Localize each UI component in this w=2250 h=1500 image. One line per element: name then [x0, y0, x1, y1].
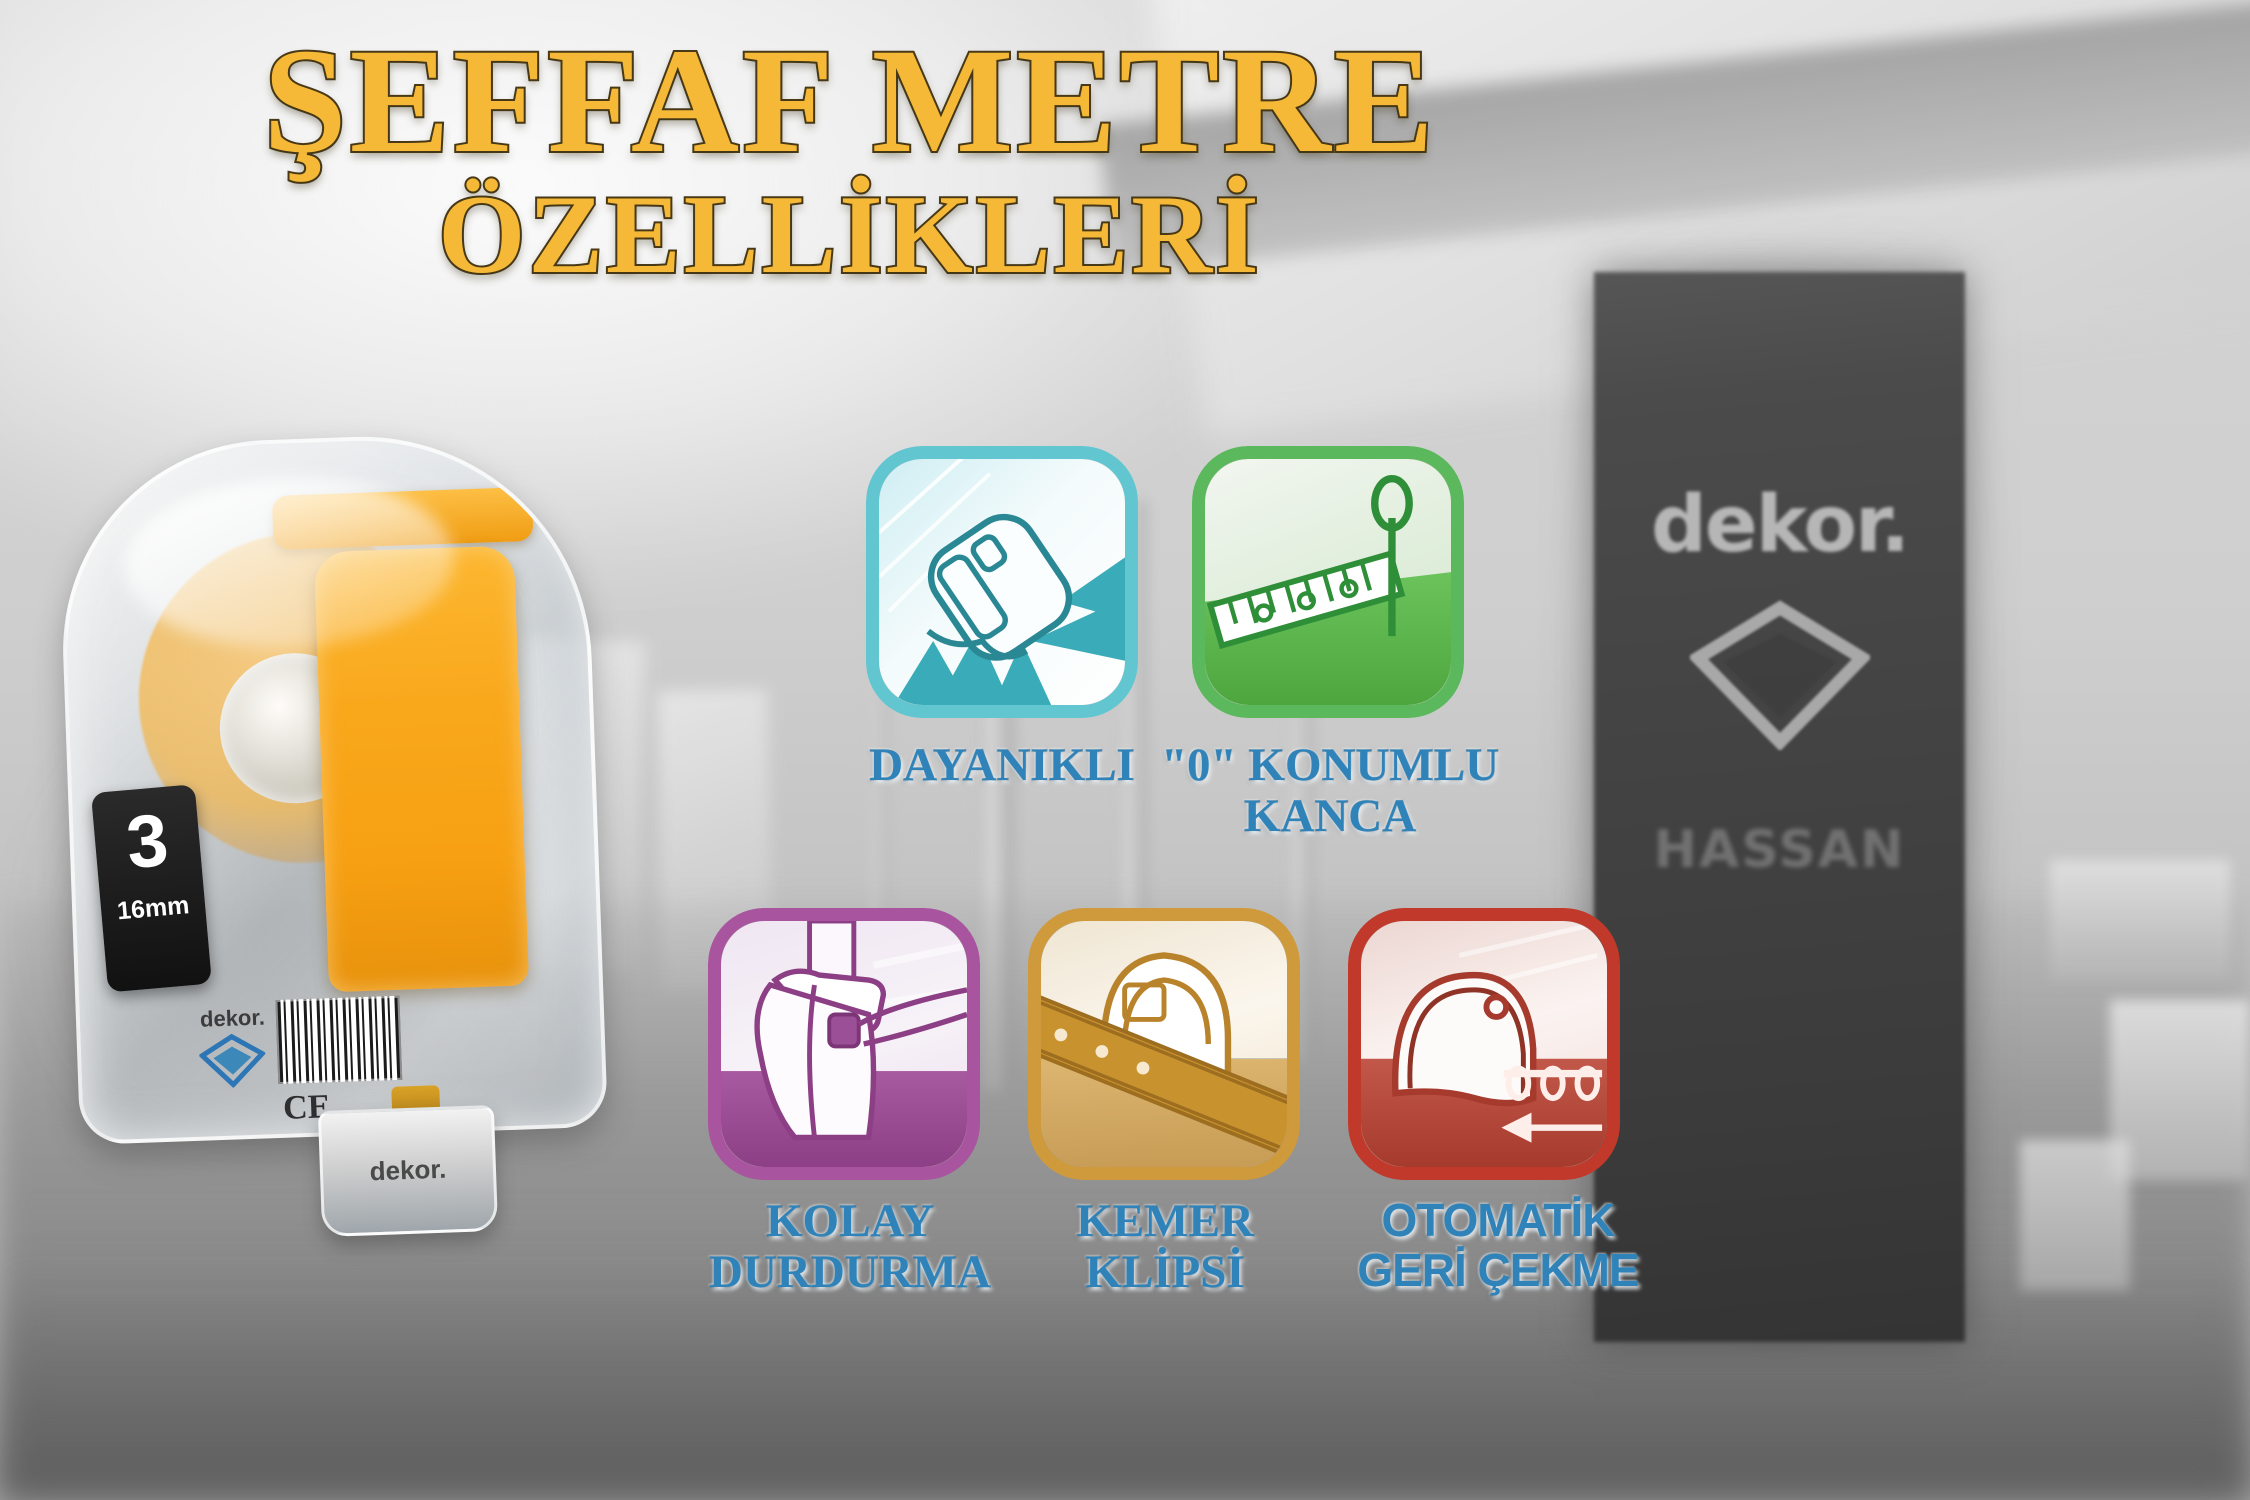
tape-end-clip: dekor. [318, 1105, 498, 1237]
tile-frame-easy-lock [708, 908, 980, 1180]
width-value: 16mm [100, 890, 206, 928]
length-value: 3 [92, 800, 202, 883]
background-crate [2020, 1140, 2130, 1290]
dekor-sign-subtitle: HASSAN [1594, 820, 1965, 880]
barcode [275, 996, 402, 1084]
tile-frame-belt-clip [1028, 908, 1300, 1180]
dekor-diamond-logo-icon [1690, 600, 1870, 750]
tape-end-brand: dekor. [322, 1152, 493, 1189]
feature-tile-auto-rewind[interactable] [1348, 908, 1620, 1180]
product-diamond-logo-icon [199, 1033, 267, 1089]
background-crate [2050, 860, 2230, 980]
feature-tile-belt-clip[interactable] [1028, 908, 1300, 1180]
tape-measure-transparent-case: 3 16mm dekor. CE [56, 429, 608, 1145]
feature-label-belt-clip: KEMER KLİPSİ [1000, 1196, 1330, 1298]
poster-canvas: dekor. HASSAN ŞEFFAF METRE ÖZELLİKLERİ 3… [0, 0, 2250, 1500]
product-photo-tape-measure: 3 16mm dekor. CE dekor. [20, 418, 620, 1248]
dekor-sign-board [1594, 272, 1965, 1342]
product-brand-text: dekor. [200, 1004, 266, 1032]
feature-label-easy-lock: KOLAY DURDURMA [660, 1196, 1040, 1298]
tile-frame-auto-rewind [1348, 908, 1620, 1180]
feature-tile-zero-hook[interactable] [1192, 446, 1464, 718]
size-label: 3 16mm [91, 784, 212, 992]
feature-label-auto-rewind: OTOMATİK GERİ ÇEKME [1318, 1196, 1678, 1295]
dekor-sign-brand: dekor. [1594, 480, 1965, 570]
feature-tile-easy-lock[interactable] [708, 908, 980, 1180]
feature-tile-durable[interactable] [866, 446, 1138, 718]
tile-frame-zero-hook [1192, 446, 1464, 718]
background-crate [2110, 1000, 2250, 1180]
tile-frame-durable [866, 446, 1138, 718]
feature-label-zero-hook: "0" KONUMLU KANCA [1110, 740, 1550, 842]
